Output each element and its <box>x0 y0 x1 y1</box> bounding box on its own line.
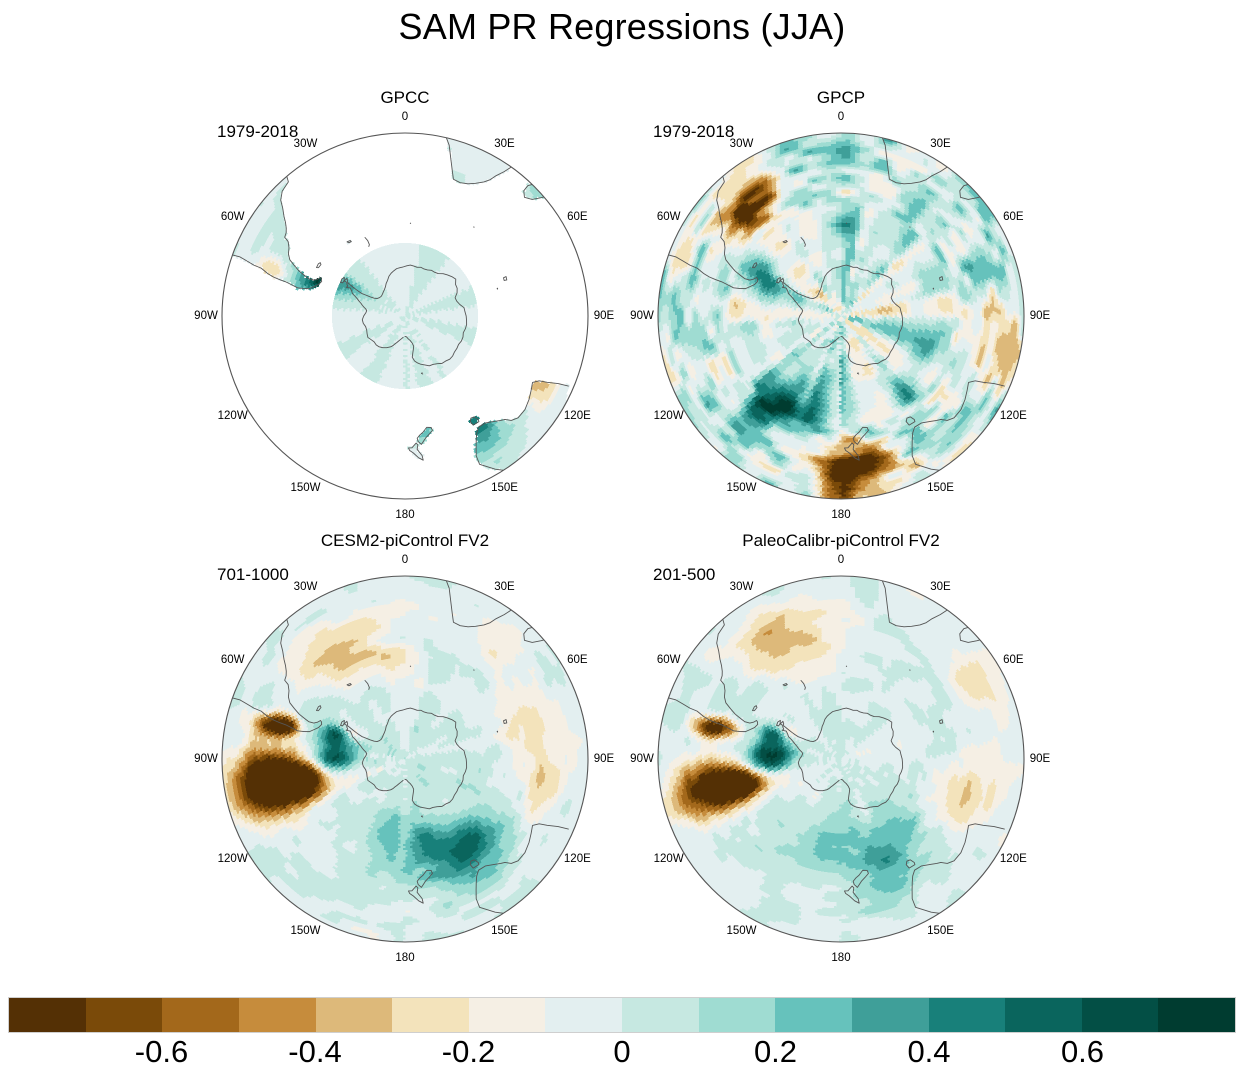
lon-label-60E: 60E <box>1003 654 1023 666</box>
colorbar-bin-11 <box>852 998 929 1032</box>
lon-label-60E: 60E <box>567 654 587 666</box>
panel-cesm2: CESM2-piControl FV2 701-1000 030E60E90E1… <box>195 531 615 961</box>
colorbar-bin-15 <box>1158 998 1235 1032</box>
lon-label-120W: 120W <box>654 853 684 865</box>
lon-label-180: 180 <box>831 952 850 964</box>
figure-title: SAM PR Regressions (JJA) <box>0 6 1244 48</box>
lon-label-60E: 60E <box>567 211 587 223</box>
panel-gpcp: GPCP 1979-2018 030E60E90E120E150E180150W… <box>631 88 1051 518</box>
lon-label-120W: 120W <box>218 410 248 422</box>
lon-label-90W: 90W <box>194 753 218 765</box>
map-svg <box>195 531 615 961</box>
lon-label-120E: 120E <box>564 410 591 422</box>
lon-label-30W: 30W <box>294 138 318 150</box>
panel-gpcp-map: 030E60E90E120E150E180150W120W90W60W30W <box>631 88 1051 518</box>
colorbar-tick-labels: -0.6-0.4-0.200.20.40.6 <box>8 1034 1236 1078</box>
colorbar-bin-13 <box>1005 998 1082 1032</box>
lon-label-150W: 150W <box>290 482 320 494</box>
lon-label-30E: 30E <box>930 581 950 593</box>
panel-paleocalibr-map: 030E60E90E120E150E180150W120W90W60W30W <box>631 531 1051 961</box>
colorbar-tick--0.6: -0.6 <box>135 1034 188 1070</box>
lon-label-150E: 150E <box>491 925 518 937</box>
lon-label-60E: 60E <box>1003 211 1023 223</box>
colorbar-tick-0.6: 0.6 <box>1061 1034 1104 1070</box>
colorbar-bin-9 <box>699 998 776 1032</box>
lon-label-30W: 30W <box>294 581 318 593</box>
colorbar-bin-2 <box>162 998 239 1032</box>
lon-label-60W: 60W <box>221 654 245 666</box>
map-svg <box>631 531 1051 961</box>
lon-label-180: 180 <box>395 509 414 521</box>
lon-label-60W: 60W <box>657 211 681 223</box>
panel-paleocalibr: PaleoCalibr-piControl FV2 201-500 030E60… <box>631 531 1051 961</box>
lon-label-90W: 90W <box>630 753 654 765</box>
lon-label-90W: 90W <box>630 310 654 322</box>
lon-label-120E: 120E <box>1000 410 1027 422</box>
lon-label-90E: 90E <box>594 753 614 765</box>
lon-label-180: 180 <box>831 509 850 521</box>
colorbar-bin-6 <box>469 998 546 1032</box>
panel-gpcc-map: 030E60E90E120E150E180150W120W90W60W30W <box>195 88 615 518</box>
colorbar-bin-3 <box>239 998 316 1032</box>
lon-label-0: 0 <box>402 111 408 123</box>
lon-label-120W: 120W <box>654 410 684 422</box>
lon-label-0: 0 <box>838 111 844 123</box>
colorbar-tick--0.4: -0.4 <box>288 1034 341 1070</box>
colorbar-tick-0: 0 <box>613 1034 630 1070</box>
colorbar-tick--0.2: -0.2 <box>442 1034 495 1070</box>
lon-label-0: 0 <box>402 554 408 566</box>
lon-label-30E: 30E <box>494 581 514 593</box>
colorbar-tick-0.2: 0.2 <box>754 1034 797 1070</box>
figure-root: SAM PR Regressions (JJA) GPCC 1979-2018 … <box>0 0 1244 1078</box>
map-svg <box>195 88 615 518</box>
colorbar-bin-7 <box>545 998 622 1032</box>
colorbar-bin-4 <box>316 998 393 1032</box>
colorbar-bin-10 <box>775 998 852 1032</box>
lon-label-30W: 30W <box>730 581 754 593</box>
colorbar-bin-14 <box>1082 998 1159 1032</box>
colorbar-bin-1 <box>86 998 163 1032</box>
lon-label-90W: 90W <box>194 310 218 322</box>
lon-label-120E: 120E <box>564 853 591 865</box>
lon-label-30E: 30E <box>494 138 514 150</box>
lon-label-150W: 150W <box>726 925 756 937</box>
map-svg <box>631 88 1051 518</box>
lon-label-30E: 30E <box>930 138 950 150</box>
colorbar-bin-5 <box>392 998 469 1032</box>
panel-gpcc: GPCC 1979-2018 030E60E90E120E150E180150W… <box>195 88 615 518</box>
lon-label-150E: 150E <box>491 482 518 494</box>
lon-label-180: 180 <box>395 952 414 964</box>
lon-label-150E: 150E <box>927 482 954 494</box>
lon-label-120E: 120E <box>1000 853 1027 865</box>
colorbar-bin-8 <box>622 998 699 1032</box>
colorbar-bin-12 <box>929 998 1006 1032</box>
lon-label-0: 0 <box>838 554 844 566</box>
colorbar-bin-0 <box>9 998 86 1032</box>
lon-label-120W: 120W <box>218 853 248 865</box>
lon-label-150W: 150W <box>290 925 320 937</box>
lon-label-30W: 30W <box>730 138 754 150</box>
colorbar-tick-0.4: 0.4 <box>907 1034 950 1070</box>
lon-label-60W: 60W <box>221 211 245 223</box>
lon-label-150W: 150W <box>726 482 756 494</box>
lon-label-60W: 60W <box>657 654 681 666</box>
colorbar[interactable] <box>8 997 1236 1033</box>
lon-label-90E: 90E <box>1030 753 1050 765</box>
panel-cesm2-map: 030E60E90E120E150E180150W120W90W60W30W <box>195 531 615 961</box>
lon-label-90E: 90E <box>594 310 614 322</box>
lon-label-150E: 150E <box>927 925 954 937</box>
lon-label-90E: 90E <box>1030 310 1050 322</box>
